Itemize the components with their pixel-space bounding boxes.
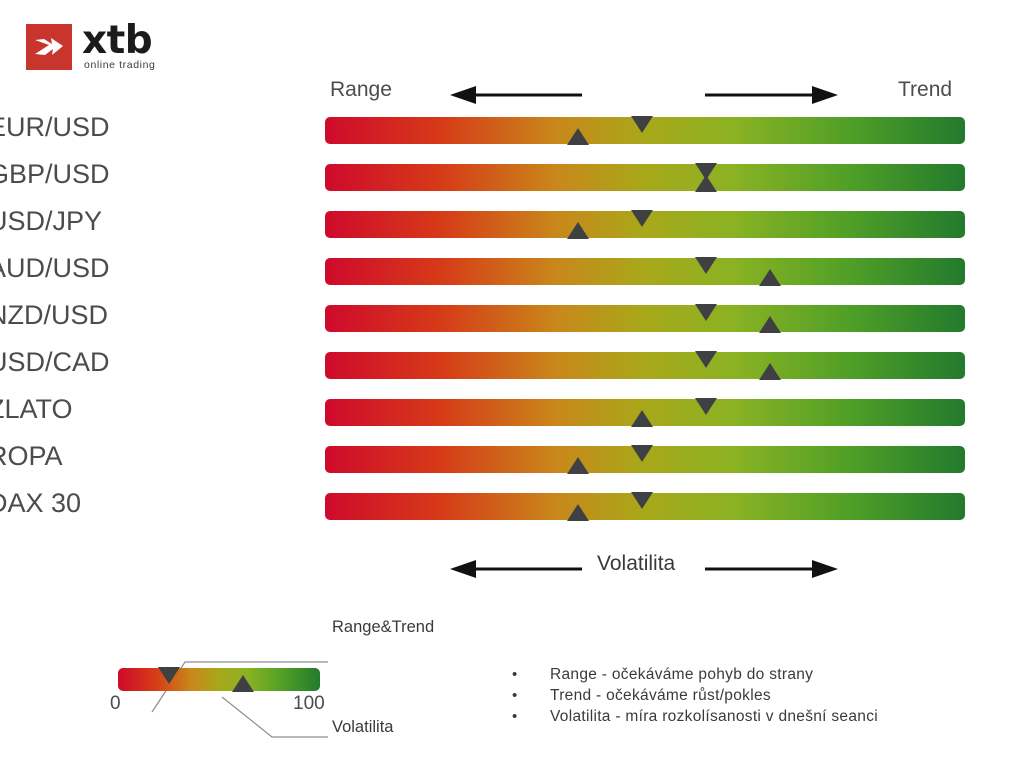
instrument-gauge — [325, 305, 965, 332]
marker-range-trend — [631, 445, 653, 462]
legend-gradient-bar — [118, 668, 320, 691]
instrument-label: AUD/USD — [0, 253, 248, 283]
instrument-gauge — [325, 493, 965, 520]
marker-volatilita — [631, 410, 653, 427]
instrument-row: ROPA — [0, 436, 1024, 483]
legend-scale: 0 100 Range&Trend Volatilita — [0, 600, 500, 760]
instrument-label: ROPA — [0, 441, 248, 471]
legend-marker-range-trend — [158, 667, 180, 684]
instrument-label: DAX 30 — [0, 488, 248, 518]
marker-range-trend — [695, 304, 717, 321]
marker-volatilita — [759, 363, 781, 380]
instrument-row: EUR/USD — [0, 107, 1024, 154]
instrument-gauge — [325, 446, 965, 473]
instrument-label: USD/CAD — [0, 347, 248, 377]
instrument-row: DAX 30 — [0, 483, 1024, 530]
instrument-label: EUR/USD — [0, 112, 248, 142]
legend-callout-range-trend: Range&Trend — [332, 618, 434, 637]
marker-volatilita — [759, 269, 781, 286]
instrument-label: NZD/USD — [0, 300, 248, 330]
instrument-label: USD/JPY — [0, 206, 248, 236]
marker-volatilita — [759, 316, 781, 333]
marker-range-trend — [695, 398, 717, 415]
marker-volatilita — [567, 504, 589, 521]
marker-volatilita — [567, 128, 589, 145]
marker-range-trend — [631, 210, 653, 227]
instrument-gauge — [325, 258, 965, 285]
instrument-row: GBP/USD — [0, 154, 1024, 201]
bullet-icon: • — [512, 664, 550, 685]
instrument-gauge — [325, 164, 965, 191]
gauge-gradient — [325, 305, 965, 332]
marker-range-trend — [695, 257, 717, 274]
instrument-row: USD/JPY — [0, 201, 1024, 248]
arrow-right-icon-bottom — [703, 558, 838, 580]
legend-note: •Trend - očekáváme růst/pokles — [512, 685, 982, 706]
legend-tick-min: 0 — [110, 693, 121, 715]
legend-note: •Range - očekáváme pohyb do strany — [512, 664, 982, 685]
marker-volatilita — [567, 222, 589, 239]
marker-range-trend — [631, 116, 653, 133]
legend-notes-list: •Range - očekáváme pohyb do strany•Trend… — [512, 664, 982, 727]
instrument-label: ZLATO — [0, 394, 248, 424]
legend-note-text: Range - očekáváme pohyb do strany — [550, 664, 813, 685]
marker-volatilita — [567, 457, 589, 474]
instrument-row: NZD/USD — [0, 295, 1024, 342]
arrow-left-icon-bottom — [450, 558, 585, 580]
gauge-gradient — [325, 352, 965, 379]
axis-label-volatilita: Volatilita — [597, 552, 675, 576]
bottom-axis: Volatilita — [0, 552, 1024, 586]
marker-range-trend — [695, 351, 717, 368]
bullet-icon: • — [512, 706, 550, 727]
instrument-row: ZLATO — [0, 389, 1024, 436]
marker-range-trend — [631, 492, 653, 509]
instrument-row: USD/CAD — [0, 342, 1024, 389]
instrument-row: AUD/USD — [0, 248, 1024, 295]
marker-volatilita — [695, 175, 717, 192]
gauge-gradient — [325, 258, 965, 285]
legend-callout-volatilita: Volatilita — [332, 718, 393, 737]
legend-note-text: Trend - očekáváme růst/pokles — [550, 685, 771, 706]
legend-marker-volatilita — [232, 675, 254, 692]
instrument-label: GBP/USD — [0, 159, 248, 189]
gauge-gradient — [325, 164, 965, 191]
instrument-gauge — [325, 211, 965, 238]
legend-tick-max: 100 — [293, 693, 325, 715]
instrument-gauge — [325, 399, 965, 426]
legend-note-text: Volatilita - míra rozkolísanosti v dnešn… — [550, 706, 878, 727]
instrument-gauge — [325, 352, 965, 379]
bullet-icon: • — [512, 685, 550, 706]
legend-note: •Volatilita - míra rozkolísanosti v dneš… — [512, 706, 982, 727]
instrument-gauge — [325, 117, 965, 144]
